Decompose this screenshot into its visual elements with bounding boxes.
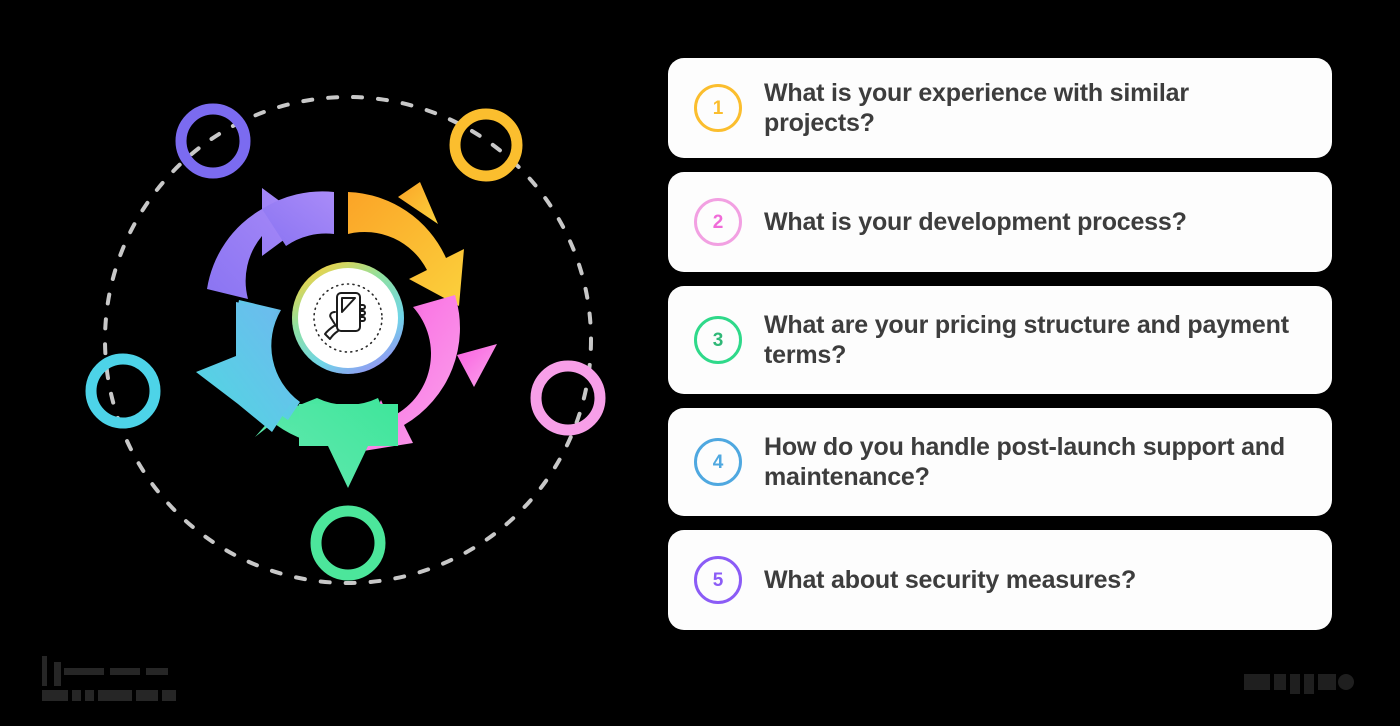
question-text-2: What is your development process? [764, 207, 1187, 238]
question-number-badge-5: 5 [694, 556, 742, 604]
question-number-badge-4: 4 [694, 438, 742, 486]
question-card-list: 1 What is your experience with similar p… [668, 58, 1332, 630]
question-text-1: What is your experience with similar pro… [764, 78, 1306, 139]
question-card-1[interactable]: 1 What is your experience with similar p… [668, 58, 1332, 158]
footer-brand-wordmark-right [1242, 668, 1362, 698]
node-right[interactable] [536, 366, 600, 430]
question-card-5[interactable]: 5 What about security measures? [668, 530, 1332, 630]
question-card-4[interactable]: 4 How do you handle post-launch support … [668, 408, 1332, 516]
cycle-hub [292, 262, 404, 374]
question-text-5: What about security measures? [764, 565, 1136, 596]
question-number-badge-3: 3 [694, 316, 742, 364]
node-top-left[interactable] [181, 109, 245, 173]
cycle-diagram-svg [0, 0, 660, 620]
arrow-segment-cyan [196, 300, 300, 432]
node-bottom[interactable] [316, 511, 380, 575]
node-top-right[interactable] [455, 114, 517, 176]
question-number-badge-2: 2 [694, 198, 742, 246]
question-card-3[interactable]: 3 What are your pricing structure and pa… [668, 286, 1332, 394]
question-number-badge-1: 1 [694, 84, 742, 132]
question-text-4: How do you handle post-launch support an… [764, 432, 1306, 493]
question-card-2[interactable]: 2 What is your development process? [668, 172, 1332, 272]
question-text-3: What are your pricing structure and paym… [764, 310, 1306, 371]
cycle-diagram-panel [0, 0, 660, 620]
node-left[interactable] [91, 359, 155, 423]
footer-brand-wordmark-left [40, 652, 210, 704]
